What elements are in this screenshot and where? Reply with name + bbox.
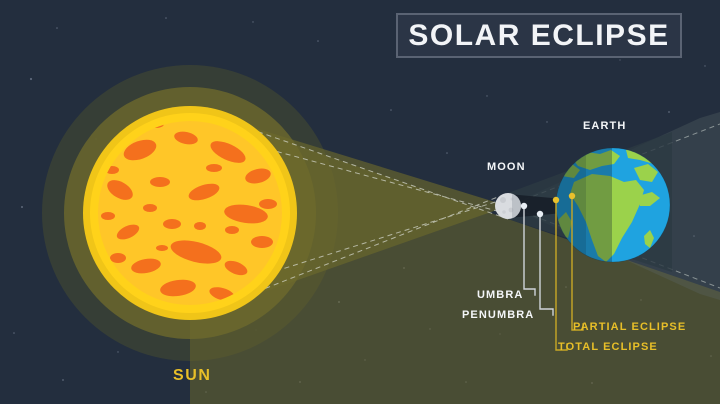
total-eclipse-leader [556,200,567,350]
total-eclipse-leader-dot [553,197,559,203]
moon-label: MOON [487,162,526,173]
page-title: SOLAR ECLIPSE [408,21,669,51]
penumbra-leader-dot [537,211,543,217]
sun-label: SUN [173,368,212,384]
umbra-label: UMBRA [477,290,523,301]
total-eclipse-label: TOTAL ECLIPSE [558,342,658,353]
earth-label: EARTH [583,121,626,132]
solar-eclipse-diagram: SOLAR ECLIPSE SUN MOON EARTH UMBRA PENUM… [0,0,720,404]
partial-eclipse-label: PARTIAL ECLIPSE [573,322,686,333]
penumbra-label: PENUMBRA [462,310,534,321]
penumbra-leader [540,214,553,315]
partial-eclipse-leader-dot [569,193,575,199]
umbra-leader [524,206,535,295]
umbra-leader-dot [521,203,527,209]
title-box: SOLAR ECLIPSE [396,13,682,58]
partial-eclipse-leader [572,196,583,330]
